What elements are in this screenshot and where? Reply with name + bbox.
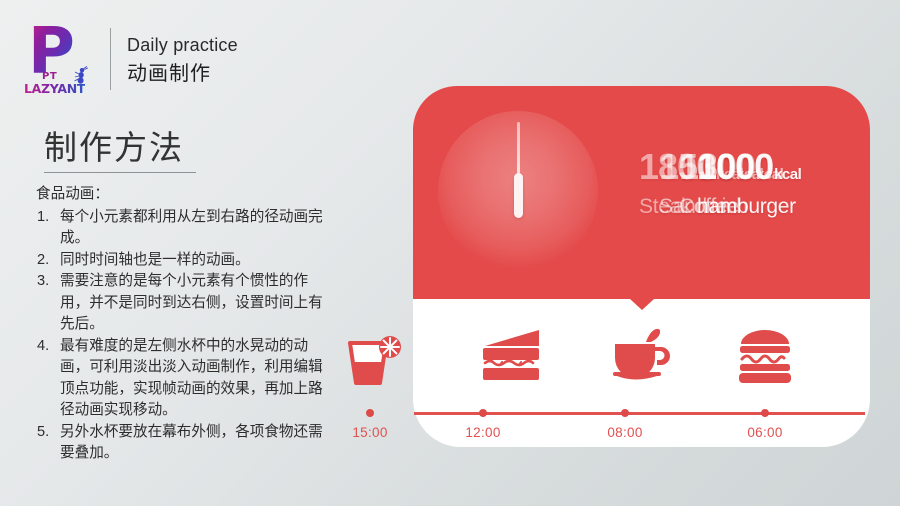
list-item: 另外水杯要放在幕布外侧，各项食物还需要叠加。 xyxy=(36,422,336,465)
timeline: 15:00 12:00 08:00 06:00 xyxy=(345,402,865,448)
readout-number: 1000kcal xyxy=(697,148,801,194)
readout-food-name: hamburger xyxy=(697,194,801,220)
timeline-point[interactable]: 12:00 xyxy=(443,402,523,440)
list-item: 需要注意的是每个小元素有个惯性的作用，并不是同时到达右侧，设置时间上有先后。 xyxy=(36,271,336,336)
timeline-point[interactable]: 06:00 xyxy=(725,402,805,440)
header-divider xyxy=(110,28,111,90)
timeline-point[interactable]: 08:00 xyxy=(585,402,665,440)
food-tracker-card: 1800kcal Steak 1500kcal Sandwich 1300kca… xyxy=(413,86,870,447)
timeline-dot xyxy=(366,409,374,417)
list-item: 每个小元素都利用从左到右路的径动画完成。 xyxy=(36,207,336,250)
timeline-dot xyxy=(621,409,629,417)
card-notch xyxy=(630,299,654,310)
gauge-knob xyxy=(514,173,523,218)
timeline-point[interactable]: 15:00 xyxy=(330,402,410,440)
timeline-dot xyxy=(479,409,487,417)
header-title-en: Daily practice xyxy=(127,31,238,59)
food-icon-row xyxy=(413,322,870,396)
readout-layer: 1000kcal hamburger xyxy=(697,148,801,220)
timeline-label: 15:00 xyxy=(330,425,410,440)
brand-header: P PT LAZYANT Daily practice 动画制作 xyxy=(22,22,238,96)
timeline-label: 08:00 xyxy=(585,425,665,440)
card-red-header: 1800kcal Steak 1500kcal Sandwich 1300kca… xyxy=(413,86,870,302)
lazyant-logo: P PT LAZYANT xyxy=(22,22,94,96)
heading-underline xyxy=(44,172,196,173)
page-title: 制作方法 xyxy=(44,126,324,170)
calorie-readout: 1800kcal Steak 1500kcal Sandwich 1300kca… xyxy=(645,148,855,228)
list-item: 最有难度的是左侧水杯中的水晃动的动画，可利用淡出淡入动画制作，利用编辑顶点功能，… xyxy=(36,336,336,422)
section-heading: 制作方法 xyxy=(44,126,324,173)
timeline-label: 06:00 xyxy=(725,425,805,440)
header-titles: Daily practice 动画制作 xyxy=(127,29,238,89)
gauge-needle-icon xyxy=(438,111,598,271)
steps-list: 每个小元素都利用从左到右路的径动画完成。 同时时间轴也是一样的动画。 需要注意的… xyxy=(36,207,336,465)
list-item: 同时时间轴也是一样的动画。 xyxy=(36,250,336,272)
timeline-dot xyxy=(761,409,769,417)
body-copy: 食品动画： 每个小元素都利用从左到右路的径动画完成。 同时时间轴也是一样的动画。… xyxy=(36,184,336,465)
coffee-icon[interactable] xyxy=(603,322,679,386)
header-title-cn: 动画制作 xyxy=(127,59,238,89)
intro-line: 食品动画： xyxy=(36,184,336,206)
cocktail-glass-icon[interactable] xyxy=(342,335,404,391)
timeline-label: 12:00 xyxy=(443,425,523,440)
cake-icon[interactable] xyxy=(475,322,551,386)
readout-unit: kcal xyxy=(774,166,801,183)
burger-icon[interactable] xyxy=(731,322,807,386)
logo-wordmark: LAZYANT xyxy=(24,81,85,96)
